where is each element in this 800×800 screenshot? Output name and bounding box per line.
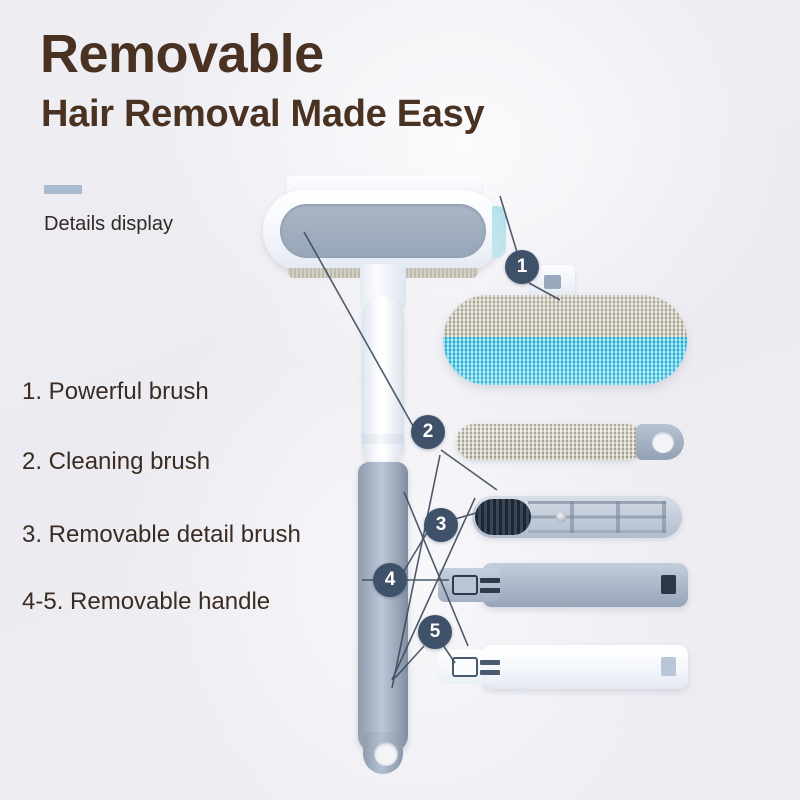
part-removable-detail-brush [472,496,682,538]
tool-hang-hole [374,742,398,766]
part3-mid-rib [528,516,666,519]
tool-shaft-joint [362,434,404,444]
feature-item-2: 2. Cleaning brush [22,448,210,476]
part3-dark-bristles [475,499,531,535]
part-cleaning-brush [456,424,684,460]
part4-clip-latch [452,575,478,595]
section-label: Details display [44,213,173,236]
feature-item-4-5: 4-5. Removable handle [22,588,270,616]
callout-badge-5[interactable]: 5 [418,615,452,649]
part1-bristle-pad [443,295,687,385]
callout-badge-1[interactable]: 1 [505,250,539,284]
part2-bristle-strip [456,424,644,460]
page-subtitle: Hair Removal Made Easy [41,95,484,133]
part2-hang-hole [652,432,674,453]
part4-slot-top [480,578,500,583]
page-title: Removable [40,27,324,81]
tool-shaft-lower [358,462,408,752]
callout-badge-2[interactable]: 2 [411,415,445,449]
tool-head-inner-panel [280,204,486,258]
part5-slot-bottom [480,670,500,675]
part5-slot-top [480,660,500,665]
part4-slot-bottom [480,588,500,593]
product-infographic: Removable Hair Removal Made Easy Details… [0,0,800,800]
part1-bristles-cyan [443,337,687,385]
part-removable-handle-grey [438,563,688,607]
part1-bristles-tan [443,295,687,337]
part1-connector-socket [544,275,561,289]
callout-badge-4[interactable]: 4 [373,563,407,597]
part4-body [482,563,688,607]
part5-body [482,645,688,689]
part3-screw [556,512,567,523]
part5-end-port [661,657,676,676]
part-removable-handle-white [438,645,688,689]
feature-item-1: 1. Powerful brush [22,378,209,406]
part-powerful-brush [443,295,687,385]
part4-end-port [661,575,676,594]
tool-head-teal-edge [492,206,506,258]
part5-clip-latch [452,657,478,677]
callout-badge-3[interactable]: 3 [424,508,458,542]
accent-bar [44,185,82,194]
